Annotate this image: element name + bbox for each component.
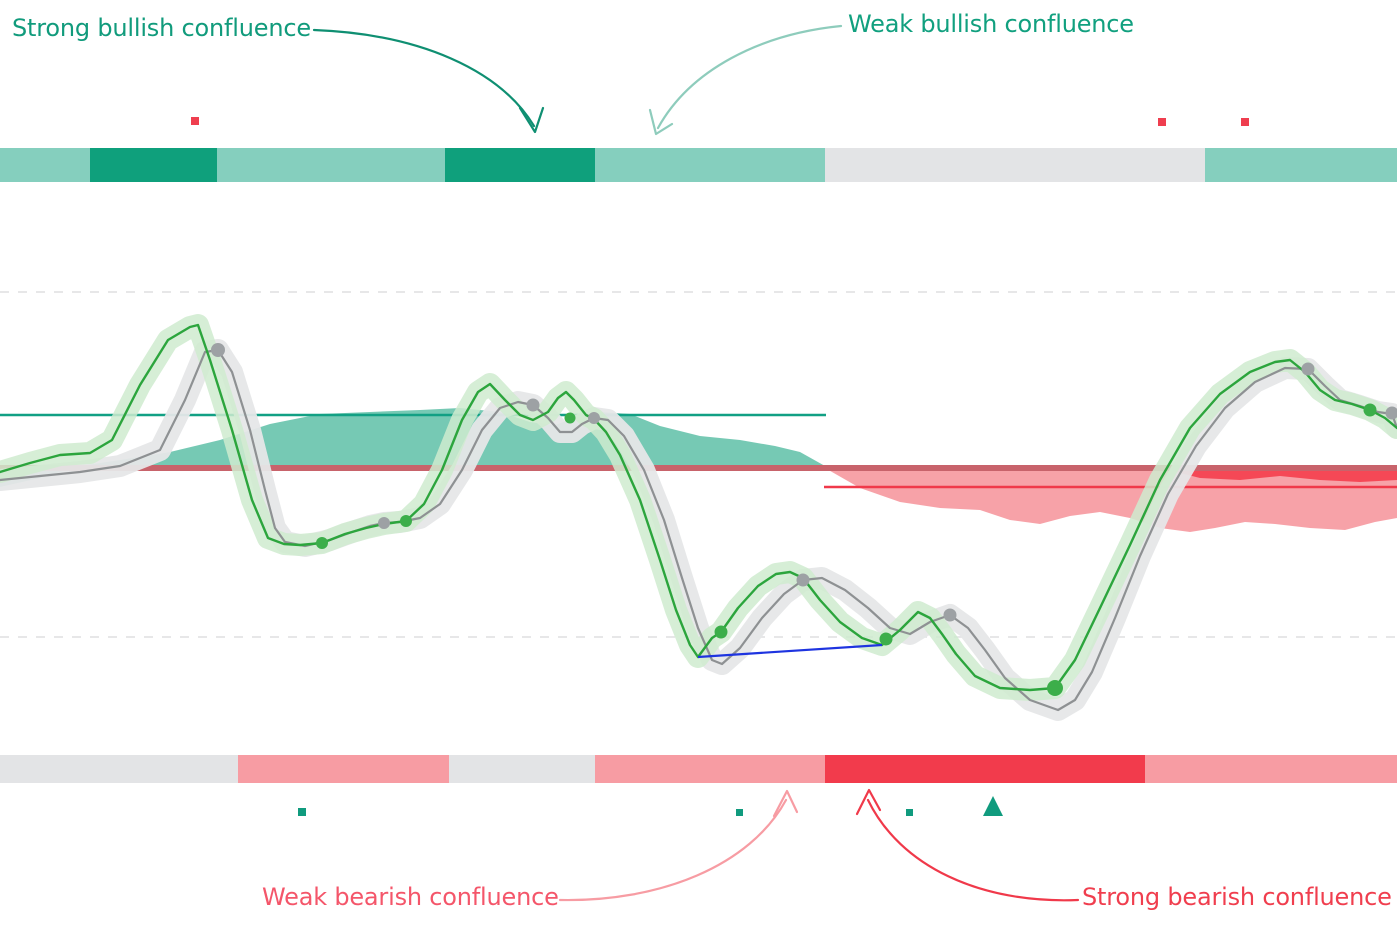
bottom-bar-segment-neutral-2[interactable] xyxy=(449,755,595,783)
pivot-dot-green xyxy=(1047,680,1063,696)
annotation-label-strong-bearish: Strong bearish confluence xyxy=(1082,885,1392,909)
annotation-label-weak-bullish: Weak bullish confluence xyxy=(848,12,1134,36)
pivot-dot-green xyxy=(715,626,728,639)
top-bar-segment-weak-bullish-2[interactable] xyxy=(217,148,445,182)
pivot-dot-gray xyxy=(211,343,225,357)
bottom-bar-segment-weak-bearish-1[interactable] xyxy=(238,755,449,783)
pivot-dot-green xyxy=(1364,404,1377,417)
arrow-strong-bearish xyxy=(868,800,1078,900)
bottom-confluence-bar[interactable] xyxy=(0,755,1397,783)
bearish-cloud xyxy=(825,468,1397,532)
marker-bearish-signal[interactable] xyxy=(1158,118,1166,126)
pivot-dot-gray xyxy=(944,609,957,622)
pivot-dot-green xyxy=(565,413,576,424)
top-bar-segment-strong-bullish-2[interactable] xyxy=(445,148,595,182)
top-bar-segment-weak-bullish-3[interactable] xyxy=(595,148,825,182)
pivot-dot-gray xyxy=(1302,363,1315,376)
top-bar-segment-weak-bullish-1[interactable] xyxy=(0,148,90,182)
marker-bullish-signal[interactable] xyxy=(736,809,743,816)
top-confluence-bar[interactable] xyxy=(0,148,1397,182)
marker-bearish-signal[interactable] xyxy=(1241,118,1249,126)
pivot-dot-green xyxy=(400,515,412,527)
arrow-strong-bullish-head xyxy=(520,108,543,132)
bottom-bar-segment-neutral-1[interactable] xyxy=(0,755,238,783)
bottom-bar-segment-weak-bearish-3[interactable] xyxy=(1145,755,1397,783)
top-bar-segment-strong-bullish-1[interactable] xyxy=(90,148,217,182)
top-signal-markers[interactable] xyxy=(191,117,1249,126)
pivot-dot-gray xyxy=(588,412,600,424)
marker-bearish-signal[interactable] xyxy=(191,117,199,125)
pivot-dot-gray xyxy=(378,517,390,529)
top-bar-segment-weak-bullish-4[interactable] xyxy=(1205,148,1397,182)
arrow-weak-bullish xyxy=(658,26,841,128)
bottom-bar-segment-strong-bearish-1[interactable] xyxy=(825,755,1145,783)
arrow-weak-bearish xyxy=(560,800,786,900)
arrow-strong-bullish xyxy=(314,30,534,126)
marker-bullish-signal[interactable] xyxy=(298,808,306,816)
annotation-label-strong-bullish: Strong bullish confluence xyxy=(12,16,311,40)
pivot-dot-green xyxy=(880,633,893,646)
pivot-dot-green xyxy=(316,537,328,549)
marker-bullish-signal[interactable] xyxy=(906,809,913,816)
pivot-dot-gray xyxy=(527,399,540,412)
bottom-signal-markers[interactable] xyxy=(298,796,1003,816)
annotation-label-weak-bearish: Weak bearish confluence xyxy=(262,885,559,909)
pivot-dot-gray xyxy=(797,574,810,587)
chart-canvas: Strong bullish confluence Weak bullish c… xyxy=(0,0,1397,926)
confluence-chart-svg xyxy=(0,0,1397,926)
marker-bullish-entry-triangle-icon[interactable] xyxy=(983,796,1003,816)
bottom-bar-segment-weak-bearish-2[interactable] xyxy=(595,755,825,783)
top-bar-segment-neutral-1[interactable] xyxy=(825,148,1205,182)
